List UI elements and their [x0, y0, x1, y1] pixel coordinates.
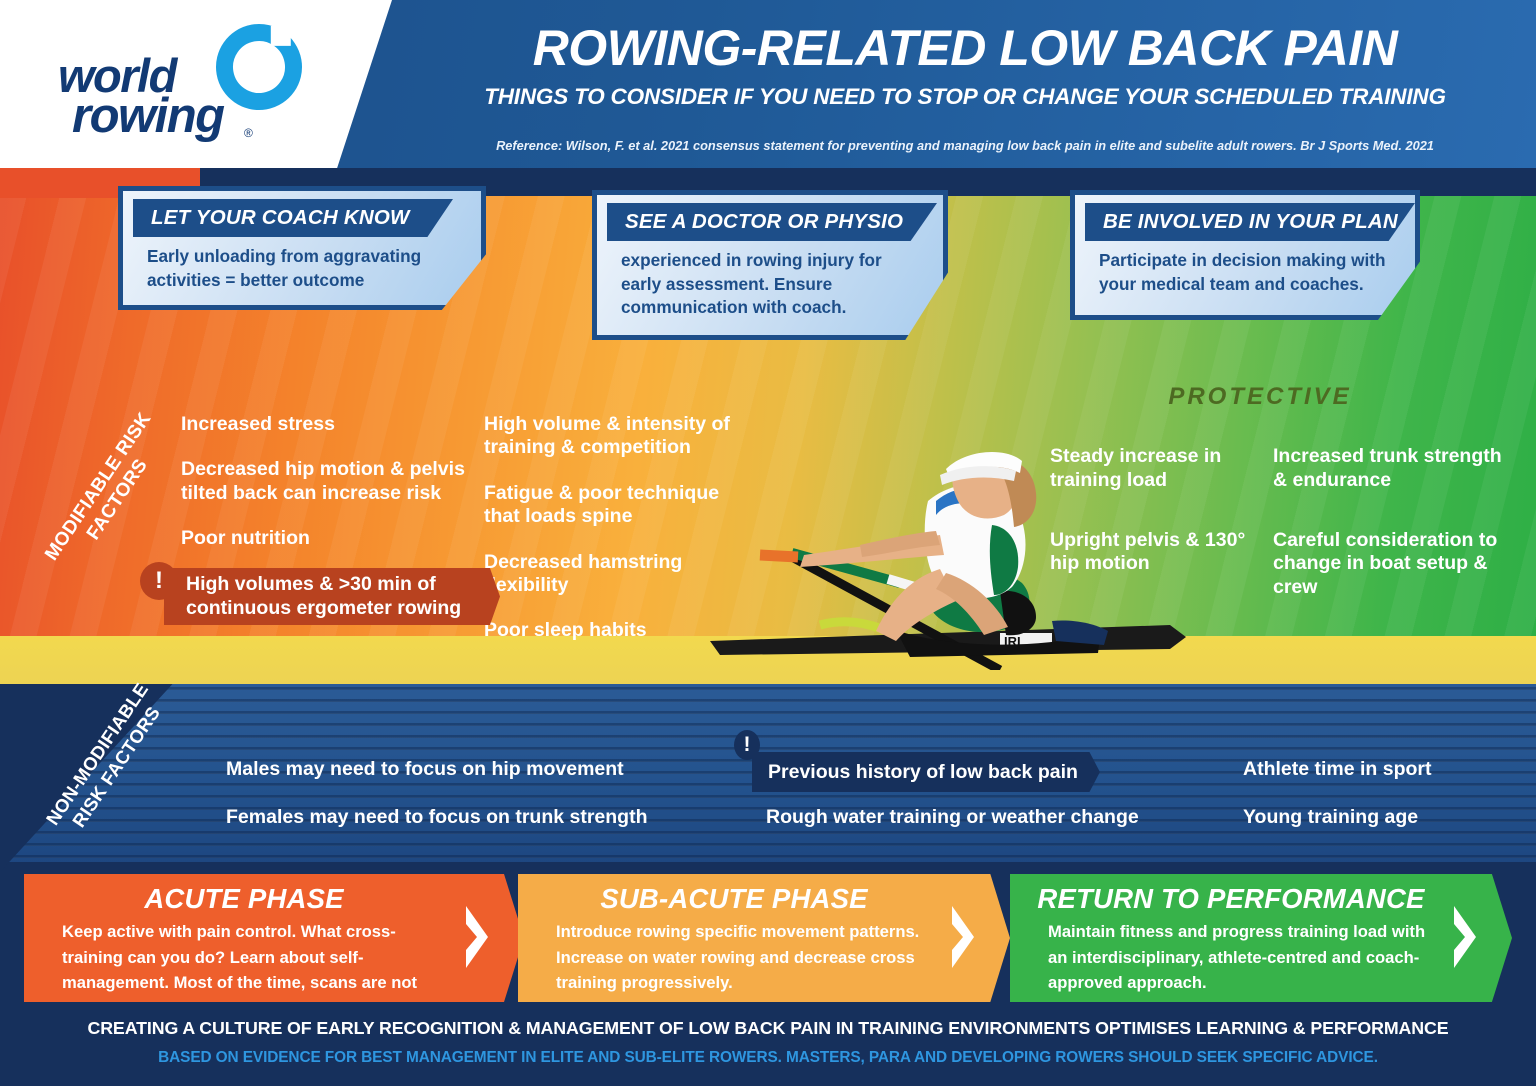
- non-modifiable-alert-chip: Previous history of low back pain: [752, 752, 1100, 792]
- phase-text: Maintain fitness and progress training l…: [1010, 915, 1512, 996]
- non-modifiable-item: Females may need to focus on trunk stren…: [226, 806, 648, 829]
- risk-item: Poor nutrition: [181, 527, 491, 550]
- callout-heading-bar: BE INVOLVED IN YOUR PLAN: [1085, 203, 1415, 241]
- callout-heading: BE INVOLVED IN YOUR PLAN: [1103, 210, 1398, 234]
- modifiable-column-1: Increased stress Decreased hip motion & …: [181, 413, 491, 573]
- non-modifiable-item: Athlete time in sport: [1243, 758, 1432, 781]
- protective-title: PROTECTIVE: [1130, 383, 1390, 411]
- logo-panel: world rowing ®: [0, 0, 392, 168]
- protective-item: Upright pelvis & 130° hip motion: [1050, 529, 1260, 577]
- risk-item: Fatigue & poor technique that loads spin…: [484, 482, 749, 529]
- protective-item: Steady increase in training load: [1050, 445, 1260, 493]
- non-modifiable-item: Males may need to focus on hip movement: [226, 758, 624, 781]
- callout-see-a-doctor-or-physio: SEE A DOCTOR OR PHYSIO experienced in ro…: [592, 190, 948, 340]
- callout-frame: BE INVOLVED IN YOUR PLAN Participate in …: [1070, 190, 1420, 320]
- callout-let-your-coach-know: LET YOUR COACH KNOW Early unloading from…: [118, 186, 486, 310]
- protective-item: Increased trunk strength & endurance: [1273, 445, 1513, 493]
- chevron-right-icon: [1452, 904, 1478, 970]
- alert-chip: High volumes & >30 min of continuous erg…: [164, 568, 500, 625]
- callout-body: Early unloading from aggravating activit…: [147, 245, 463, 292]
- callout-be-involved-in-your-plan: BE INVOLVED IN YOUR PLAN Participate in …: [1070, 190, 1420, 320]
- non-modifiable-item: Young training age: [1243, 806, 1418, 829]
- modifiable-column-2: High volume & intensity of training & co…: [484, 413, 749, 665]
- modifiable-alert-item: ! High volumes & >30 min of continuous e…: [164, 568, 500, 625]
- phase-text: Introduce rowing specific movement patte…: [518, 915, 1010, 996]
- page-subtitle: THINGS TO CONSIDER IF YOU NEED TO STOP O…: [408, 84, 1522, 110]
- chevron-right-icon: [950, 904, 976, 970]
- page-title: ROWING-RELATED LOW BACK PAIN: [408, 22, 1522, 75]
- callout-heading-bar: LET YOUR COACH KNOW: [133, 199, 453, 237]
- callout-body: Participate in decision making with your…: [1099, 249, 1397, 296]
- alert-text: High volumes & >30 min of continuous erg…: [186, 573, 500, 620]
- protective-column-1: Steady increase in training load Upright…: [1050, 445, 1260, 612]
- callout-body: experienced in rowing injury for early a…: [621, 249, 925, 320]
- callout-heading: SEE A DOCTOR OR PHYSIO: [625, 210, 903, 234]
- reference-citation: Reference: Wilson, F. et al. 2021 consen…: [408, 138, 1522, 153]
- risk-item: High volume & intensity of training & co…: [484, 413, 749, 460]
- footer-line-2: BASED ON EVIDENCE FOR BEST MANAGEMENT IN…: [0, 1049, 1536, 1067]
- risk-item: Decreased hip motion & pelvis tilted bac…: [181, 458, 491, 505]
- non-modifiable-item: Rough water training or weather change: [766, 806, 1139, 829]
- phase-banner-sub-acute: SUB-ACUTE PHASE Introduce rowing specifi…: [518, 874, 1010, 1002]
- risk-item: Increased stress: [181, 413, 491, 436]
- protective-item: Careful consideration to change in boat …: [1273, 529, 1513, 600]
- risk-item: Decreased hamstring flexibility: [484, 551, 749, 598]
- exclamation-icon: !: [734, 730, 760, 760]
- exclamation-icon: !: [140, 562, 178, 600]
- callout-heading-bar: SEE A DOCTOR OR PHYSIO: [607, 203, 937, 241]
- callout-heading: LET YOUR COACH KNOW: [151, 206, 410, 230]
- protective-column-2: Increased trunk strength & endurance Car…: [1273, 445, 1513, 636]
- alert-text: Previous history of low back pain: [768, 761, 1078, 784]
- phase-title: ACUTE PHASE: [24, 874, 524, 915]
- chevron-right-icon: [464, 904, 490, 970]
- phase-title: RETURN TO PERFORMANCE: [1010, 874, 1512, 915]
- phase-banner-return-to-performance: RETURN TO PERFORMANCE Maintain fitness a…: [1010, 874, 1512, 1002]
- callout-frame: SEE A DOCTOR OR PHYSIO experienced in ro…: [592, 190, 948, 340]
- registered-mark: ®: [244, 126, 253, 140]
- page-header: world rowing ® ROWING-RELATED LOW BACK P…: [0, 0, 1536, 168]
- logo-line-2: rowing: [72, 92, 224, 141]
- risk-item: Poor sleep habits: [484, 619, 749, 642]
- footer-line-1: CREATING A CULTURE OF EARLY RECOGNITION …: [0, 1018, 1536, 1039]
- world-rowing-logo: world rowing ®: [58, 22, 308, 146]
- callout-frame: LET YOUR COACH KNOW Early unloading from…: [118, 186, 486, 310]
- phase-title: SUB-ACUTE PHASE: [518, 874, 1010, 915]
- phase-banner-acute: ACUTE PHASE Keep active with pain contro…: [24, 874, 524, 1002]
- infographic-page: world rowing ® ROWING-RELATED LOW BACK P…: [0, 0, 1536, 1086]
